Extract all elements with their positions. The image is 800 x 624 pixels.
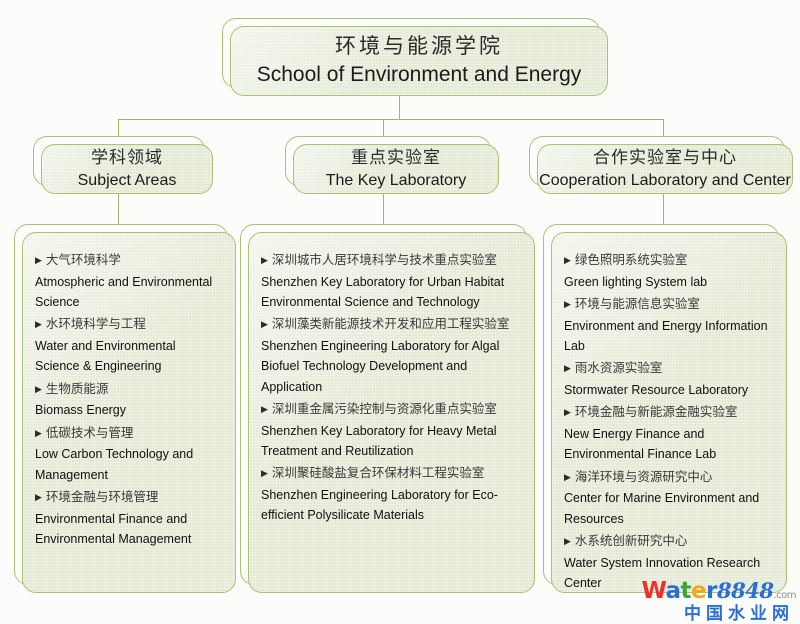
list-item-label-cn: ▶深圳藻类新能源技术开发和应用工程实验室 <box>261 315 522 335</box>
panel-3-item-list: ▶绿色照明系统实验室Green lighting System lab▶环境与能… <box>564 251 774 593</box>
list-item-cn-text: 大气环境科学 <box>46 251 121 271</box>
list-item-cn-text: 深圳藻类新能源技术开发和应用工程实验室 <box>272 315 510 335</box>
list-item-label-en: Shenzhen Engineering Laboratory for Eco-… <box>261 485 522 526</box>
list-item-label-cn: ▶环境金融与新能源金融实验室 <box>564 403 774 423</box>
connector-drop-branch-3 <box>663 119 664 136</box>
connector-root-down <box>399 96 400 120</box>
panel-cooperation-lab-center[interactable]: ▶绿色照明系统实验室Green lighting System lab▶环境与能… <box>543 224 787 593</box>
branch-head-3-face: 合作实验室与中心 Cooperation Laboratory and Cent… <box>537 144 793 194</box>
list-item-label-cn: ▶深圳重金属污染控制与资源化重点实验室 <box>261 400 522 420</box>
list-item[interactable]: ▶深圳藻类新能源技术开发和应用工程实验室Shenzhen Engineering… <box>261 315 522 397</box>
list-item-cn-text: 水环境科学与工程 <box>46 315 146 335</box>
org-chart: 环境与能源学院 School of Environment and Energy… <box>0 0 800 624</box>
list-item-label-en: Biomass Energy <box>35 400 223 420</box>
watermark-number: 8848 <box>717 578 773 603</box>
watermark-letter-e: e <box>691 578 706 604</box>
bullet-triangle-icon: ▶ <box>35 385 42 394</box>
connector-drop-branch-1 <box>118 119 119 136</box>
list-item-label-cn: ▶低碳技术与管理 <box>35 424 223 444</box>
list-item-cn-text: 生物质能源 <box>46 380 109 400</box>
list-item-label-en: Water and Environmental Science & Engine… <box>35 336 223 377</box>
list-item-label-en: Center for Marine Environment and Resour… <box>564 488 774 529</box>
root-node-school[interactable]: 环境与能源学院 School of Environment and Energy <box>222 18 608 96</box>
watermark-wordmark: Water8848.com <box>641 580 796 603</box>
list-item-label-en: Shenzhen Engineering Laboratory for Alga… <box>261 336 522 397</box>
connector-horizontal-bus <box>118 119 664 120</box>
list-item-cn-text: 深圳重金属污染控制与资源化重点实验室 <box>272 400 497 420</box>
bullet-triangle-icon: ▶ <box>35 429 42 438</box>
root-node-title-cn: 环境与能源学院 <box>335 33 503 61</box>
bullet-triangle-icon: ▶ <box>564 364 571 373</box>
branch-head-cooperation-lab-center[interactable]: 合作实验室与中心 Cooperation Laboratory and Cent… <box>529 136 793 194</box>
panel-2-face: ▶深圳城市人居环境科学与技术重点实验室Shenzhen Key Laborato… <box>248 232 535 593</box>
list-item-label-en: Stormwater Resource Laboratory <box>564 380 774 400</box>
bullet-triangle-icon: ▶ <box>564 256 571 265</box>
list-item-cn-text: 环境与能源信息实验室 <box>575 295 700 315</box>
list-item-label-en: Shenzhen Key Laboratory for Urban Habita… <box>261 272 522 313</box>
list-item-label-cn: ▶水环境科学与工程 <box>35 315 223 335</box>
list-item[interactable]: ▶环境与能源信息实验室Environment and Energy Inform… <box>564 295 774 356</box>
watermark-letter-w: W <box>641 578 665 604</box>
bullet-triangle-icon: ▶ <box>261 320 268 329</box>
list-item[interactable]: ▶低碳技术与管理Low Carbon Technology and Manage… <box>35 424 223 485</box>
list-item-label-en: Low Carbon Technology and Management <box>35 444 223 485</box>
list-item-label-cn: ▶生物质能源 <box>35 380 223 400</box>
bullet-triangle-icon: ▶ <box>564 408 571 417</box>
list-item[interactable]: ▶绿色照明系统实验室Green lighting System lab <box>564 251 774 292</box>
list-item[interactable]: ▶深圳重金属污染控制与资源化重点实验室Shenzhen Key Laborato… <box>261 400 522 461</box>
list-item-label-en: Atmospheric and Environmental Science <box>35 272 223 313</box>
watermark-letter-t: t <box>681 578 692 604</box>
list-item[interactable]: ▶水环境科学与工程Water and Environmental Science… <box>35 315 223 376</box>
list-item-label-cn: ▶环境金融与环境管理 <box>35 488 223 508</box>
list-item-cn-text: 绿色照明系统实验室 <box>575 251 688 271</box>
bullet-triangle-icon: ▶ <box>35 493 42 502</box>
connector-drop-branch-2 <box>383 119 384 136</box>
panel-key-laboratory[interactable]: ▶深圳城市人居环境科学与技术重点实验室Shenzhen Key Laborato… <box>240 224 535 593</box>
list-item[interactable]: ▶环境金融与新能源金融实验室New Energy Finance and Env… <box>564 403 774 464</box>
bullet-triangle-icon: ▶ <box>35 320 42 329</box>
connector-head-to-panel-3 <box>663 194 664 224</box>
branch-head-3-title-en: Cooperation Laboratory and Center <box>539 170 791 192</box>
bullet-triangle-icon: ▶ <box>564 300 571 309</box>
watermark-letter-a: a <box>666 578 681 604</box>
list-item-label-cn: ▶环境与能源信息实验室 <box>564 295 774 315</box>
list-item[interactable]: ▶生物质能源Biomass Energy <box>35 380 223 421</box>
bullet-triangle-icon: ▶ <box>261 405 268 414</box>
list-item-label-en: Environment and Energy Information Lab <box>564 316 774 357</box>
panel-2-item-list: ▶深圳城市人居环境科学与技术重点实验室Shenzhen Key Laborato… <box>261 251 522 525</box>
list-item-label-en: New Energy Finance and Environmental Fin… <box>564 424 774 465</box>
branch-head-2-face: 重点实验室 The Key Laboratory <box>293 144 499 194</box>
list-item[interactable]: ▶环境金融与环境管理Environmental Finance and Envi… <box>35 488 223 549</box>
bullet-triangle-icon: ▶ <box>261 256 268 265</box>
watermark-dotcom: .com <box>773 590 796 601</box>
branch-head-2-title-cn: 重点实验室 <box>351 147 441 170</box>
list-item-label-en: Green lighting System lab <box>564 272 774 292</box>
list-item-label-cn: ▶雨水资源实验室 <box>564 359 774 379</box>
branch-head-3-title-cn: 合作实验室与中心 <box>593 147 737 170</box>
branch-head-1-title-cn: 学科领域 <box>91 147 163 170</box>
connector-head-to-panel-2 <box>383 194 384 224</box>
bullet-triangle-icon: ▶ <box>564 537 571 546</box>
list-item-label-cn: ▶海洋环境与资源研究中心 <box>564 468 774 488</box>
panel-1-item-list: ▶大气环境科学Atmospheric and Environmental Sci… <box>35 251 223 549</box>
watermark-cn-text: 中国水业网 <box>641 605 796 622</box>
panel-subject-areas[interactable]: ▶大气环境科学Atmospheric and Environmental Sci… <box>14 224 236 593</box>
branch-head-1-face: 学科领域 Subject Areas <box>41 144 213 194</box>
list-item-cn-text: 环境金融与环境管理 <box>46 488 159 508</box>
branch-head-2-title-en: The Key Laboratory <box>326 170 467 192</box>
branch-head-key-laboratory[interactable]: 重点实验室 The Key Laboratory <box>285 136 499 194</box>
list-item-label-cn: ▶深圳聚硅酸盐复合环保材料工程实验室 <box>261 464 522 484</box>
root-node-face: 环境与能源学院 School of Environment and Energy <box>230 26 608 96</box>
list-item[interactable]: ▶大气环境科学Atmospheric and Environmental Sci… <box>35 251 223 312</box>
list-item-label-cn: ▶绿色照明系统实验室 <box>564 251 774 271</box>
list-item-cn-text: 深圳城市人居环境科学与技术重点实验室 <box>272 251 497 271</box>
list-item[interactable]: ▶深圳聚硅酸盐复合环保材料工程实验室Shenzhen Engineering L… <box>261 464 522 525</box>
list-item-label-cn: ▶水系统创新研究中心 <box>564 532 774 552</box>
list-item-cn-text: 水系统创新研究中心 <box>575 532 688 552</box>
list-item-label-en: Environmental Finance and Environmental … <box>35 509 223 550</box>
watermark-letter-r: r <box>706 578 717 604</box>
list-item-cn-text: 海洋环境与资源研究中心 <box>575 468 713 488</box>
bullet-triangle-icon: ▶ <box>261 469 268 478</box>
branch-head-subject-areas[interactable]: 学科领域 Subject Areas <box>33 136 213 194</box>
bullet-triangle-icon: ▶ <box>35 256 42 265</box>
list-item-label-cn: ▶深圳城市人居环境科学与技术重点实验室 <box>261 251 522 271</box>
list-item-cn-text: 深圳聚硅酸盐复合环保材料工程实验室 <box>272 464 485 484</box>
branch-head-1-title-en: Subject Areas <box>78 170 177 192</box>
list-item[interactable]: ▶雨水资源实验室Stormwater Resource Laboratory <box>564 359 774 400</box>
list-item-label-en: Shenzhen Key Laboratory for Heavy Metal … <box>261 421 522 462</box>
list-item-cn-text: 雨水资源实验室 <box>575 359 663 379</box>
panel-1-face: ▶大气环境科学Atmospheric and Environmental Sci… <box>22 232 236 593</box>
list-item[interactable]: ▶海洋环境与资源研究中心Center for Marine Environmen… <box>564 468 774 529</box>
connector-head-to-panel-1 <box>118 194 119 224</box>
panel-3-face: ▶绿色照明系统实验室Green lighting System lab▶环境与能… <box>551 232 787 593</box>
list-item[interactable]: ▶深圳城市人居环境科学与技术重点实验室Shenzhen Key Laborato… <box>261 251 522 312</box>
list-item-label-cn: ▶大气环境科学 <box>35 251 223 271</box>
bullet-triangle-icon: ▶ <box>564 473 571 482</box>
list-item-cn-text: 低碳技术与管理 <box>46 424 134 444</box>
list-item-cn-text: 环境金融与新能源金融实验室 <box>575 403 738 423</box>
root-node-title-en: School of Environment and Energy <box>257 61 582 89</box>
watermark-logo: Water8848.com 中国水业网 <box>641 580 796 622</box>
